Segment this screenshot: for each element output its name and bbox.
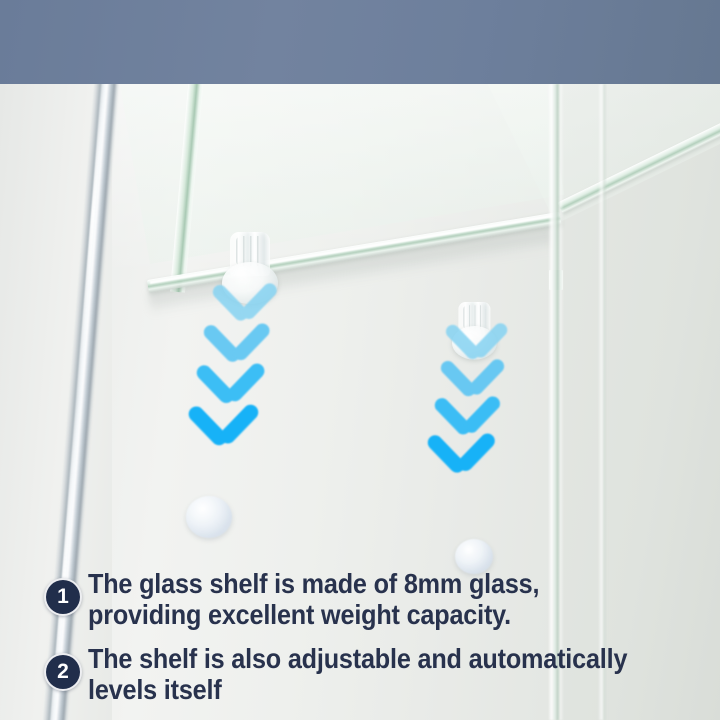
header-banner	[0, 0, 720, 84]
infographic-page: Adjustable Shelves	[0, 0, 720, 720]
caption-text: The glass shelf is made of 8mm glass, pr…	[88, 568, 646, 630]
caption-list: 1 The glass shelf is made of 8mm glass, …	[0, 560, 720, 720]
bumper-pad	[186, 496, 232, 538]
caption-text: The shelf is also adjustable and automat…	[88, 643, 646, 705]
step-number-badge: 2	[44, 653, 82, 691]
step-number-badge: 1	[44, 578, 82, 616]
